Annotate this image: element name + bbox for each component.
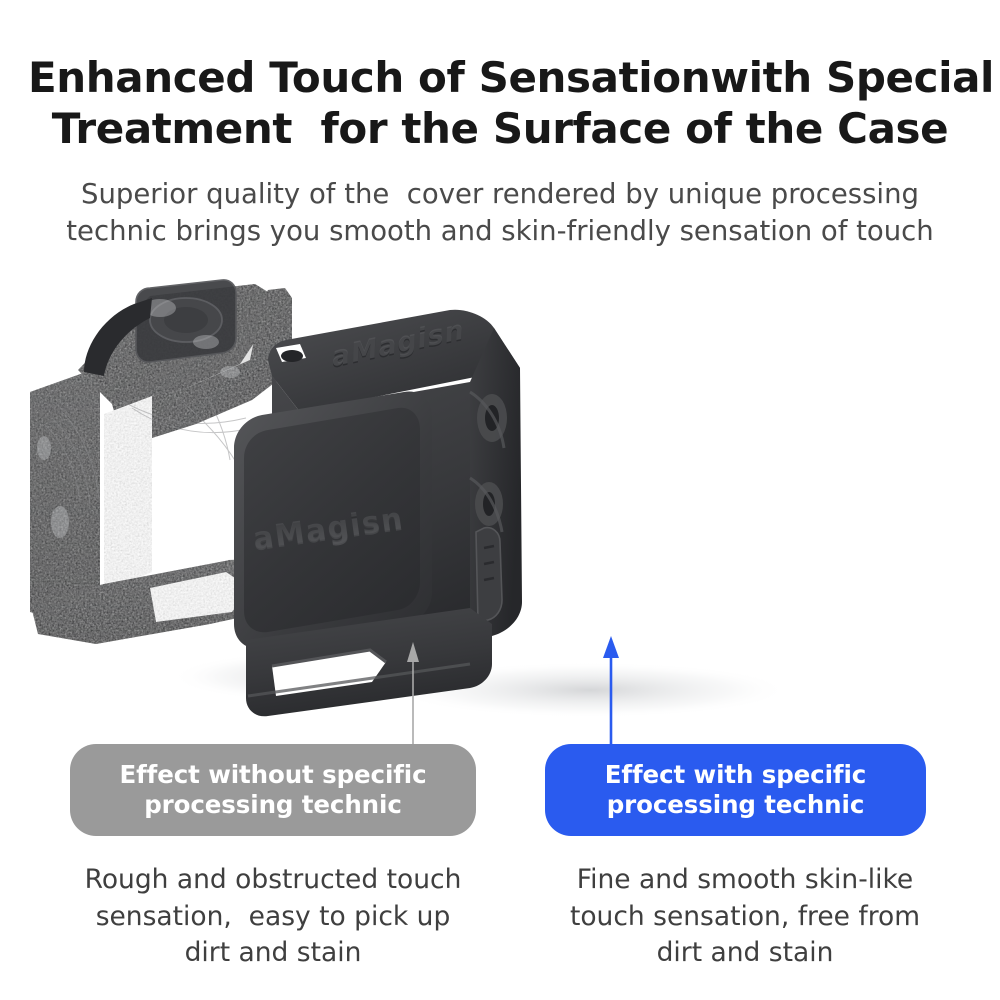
badge-row: Effect without specific processing techn… xyxy=(0,744,1000,840)
caption-without-line-1: Rough and obstructed touch xyxy=(58,862,488,899)
caption-without-line-3: dirt and stain xyxy=(58,935,488,972)
pointer-smooth-arrowhead xyxy=(603,636,619,658)
badge-with-line-1: Effect with specific xyxy=(605,760,866,790)
caption-with-line-1: Fine and smooth skin-like xyxy=(530,862,960,899)
caption-without-line-2: sensation, easy to pick up xyxy=(58,899,488,936)
caption-with-line-2: touch sensation, free from xyxy=(530,899,960,936)
caption-with-line-3: dirt and stain xyxy=(530,935,960,972)
badge-with-line-2: processing technic xyxy=(605,790,866,820)
pointer-rough xyxy=(407,642,419,744)
pointer-smooth xyxy=(603,636,619,744)
badge-with-text: Effect with specific processing technic xyxy=(605,760,866,820)
caption-without-treatment: Rough and obstructed touch sensation, ea… xyxy=(58,862,488,972)
subhead-line-1: Superior quality of the cover rendered b… xyxy=(55,176,945,213)
page-subtitle: Superior quality of the cover rendered b… xyxy=(0,176,1000,249)
badge-without-line-1: Effect without specific xyxy=(119,760,426,790)
pointer-lines xyxy=(0,272,1000,752)
subhead-line-2: technic brings you smooth and skin-frien… xyxy=(55,213,945,250)
headline-line-1: Enhanced Touch of Sensationwith Special xyxy=(28,52,972,103)
badge-without-text: Effect without specific processing techn… xyxy=(119,760,426,820)
caption-with-treatment: Fine and smooth skin-like touch sensatio… xyxy=(530,862,960,972)
badge-without-treatment[interactable]: Effect without specific processing techn… xyxy=(70,744,476,836)
badge-without-line-2: processing technic xyxy=(119,790,426,820)
header-block: Enhanced Touch of Sensationwith Special … xyxy=(0,0,1000,250)
headline-line-2: Treatment for the Surface of the Case xyxy=(28,103,972,154)
page-title: Enhanced Touch of Sensationwith Special … xyxy=(0,52,1000,154)
pointer-rough-arrowhead xyxy=(407,642,419,662)
badge-with-treatment[interactable]: Effect with specific processing technic xyxy=(545,744,926,836)
